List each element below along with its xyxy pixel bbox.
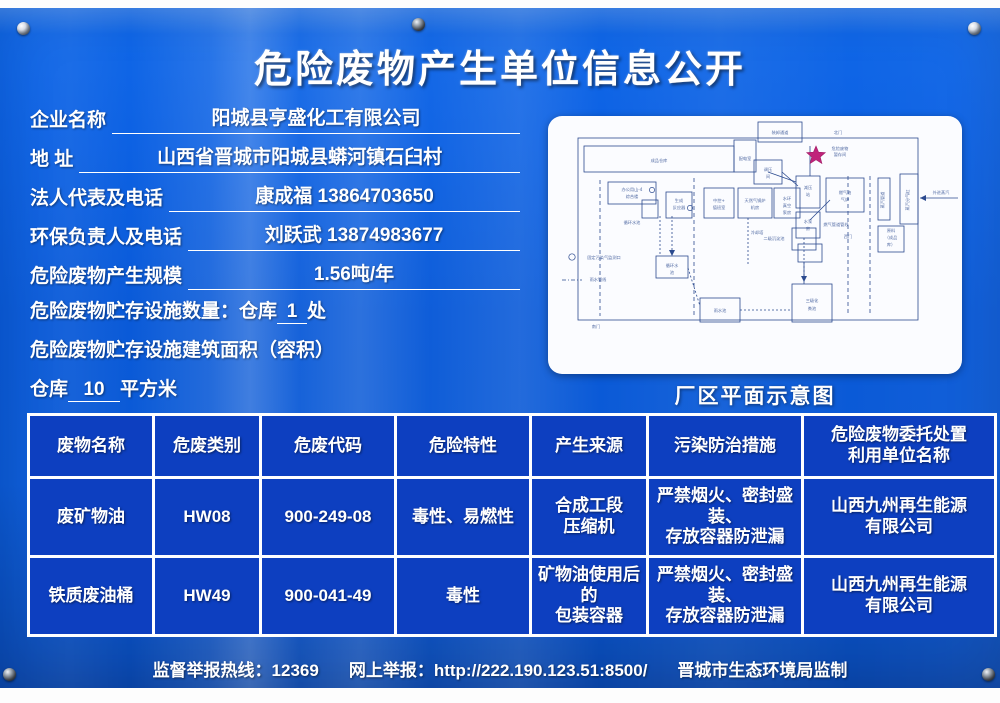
svg-text:中控+: 中控+ — [713, 197, 725, 204]
info-row-company-name: 企业名称 阳城县亨盛化工有限公司 — [30, 104, 520, 134]
svg-text:蒸汽管道: 蒸汽管道 — [879, 191, 886, 209]
svg-text:燃气管道管线: 燃气管道管线 — [823, 221, 849, 228]
svg-text:真空: 真空 — [783, 202, 791, 209]
svg-text:危险废物: 危险废物 — [832, 145, 849, 152]
svg-text:循环水: 循环水 — [666, 262, 679, 269]
svg-text:雨水管线: 雨水管线 — [590, 276, 608, 283]
svg-text:雨水池: 雨水池 — [714, 307, 727, 314]
svg-text:天然气锅炉: 天然气锅炉 — [745, 197, 766, 204]
cell-waste-name: 废矿物油 — [30, 479, 152, 555]
footer-online-report: 网上举报：http://222.190.123.51:8500/ — [349, 656, 648, 681]
svg-text:间: 间 — [766, 173, 770, 180]
header-generation-source: 产生来源 — [532, 416, 646, 476]
label-env-officer: 环保负责人及电话 — [30, 225, 182, 251]
svg-text:成品仓库: 成品仓库 — [651, 157, 668, 164]
svg-text:（成品: （成品 — [885, 234, 898, 241]
header-waste-category: 危废类别 — [155, 416, 259, 476]
cell-entrusted-unit-line2: 有限公司 — [806, 517, 992, 538]
svg-text:水泵: 水泵 — [804, 218, 812, 224]
svg-text:蒸汽分气缸: 蒸汽分气缸 — [904, 189, 911, 211]
table-header-row: 废物名称 危废类别 危废代码 危险特性 产生来源 污染防治措施 危险废物委托处置… — [30, 416, 994, 476]
header-entrusted-unit: 危险废物委托处置 利用单位名称 — [804, 416, 994, 476]
table-row: 铁质废油桶 HW49 900-041-49 毒性 矿物油使用后的 包装容器 严禁… — [30, 558, 994, 634]
cell-hazard-property: 毒性 — [397, 558, 529, 634]
company-info-block: 企业名称 阳城县亨盛化工有限公司 地 址 山西省晋城市阳城县蟒河镇石臼村 法人代… — [30, 104, 520, 416]
svg-text:综合楼: 综合楼 — [626, 193, 639, 200]
value-legal-rep: 康成福 13864703650 — [169, 185, 520, 212]
unit-storage-count: 处 — [307, 301, 326, 322]
header-waste-code: 危废代码 — [262, 416, 394, 476]
info-row-generation-scale: 危险废物产生规模 1.56吨/年 — [30, 260, 520, 290]
header-waste-name: 废物名称 — [30, 416, 152, 476]
svg-text:气炉: 气炉 — [841, 196, 849, 203]
header-entrusted-unit-line1: 危险废物委托处置 — [806, 425, 992, 446]
information-board: 危险废物产生单位信息公开 企业名称 阳城县亨盛化工有限公司 地 址 山西省晋城市… — [0, 8, 1000, 688]
svg-text:池: 池 — [670, 269, 675, 275]
info-row-storage-area-value: 仓库10平方米 — [30, 377, 520, 407]
info-row-legal-rep: 法人代表及电话 康成福 13864703650 — [30, 182, 520, 212]
svg-text:暂存间: 暂存间 — [834, 151, 847, 158]
svg-text:办公用山-4: 办公用山-4 — [622, 186, 643, 193]
unit-storage-area: 平方米 — [120, 379, 177, 400]
cell-entrusted-unit-line1: 山西九州再生能源 — [806, 496, 992, 517]
footer-hotline: 监督举报热线：12369 — [153, 656, 319, 681]
info-row-storage-count: 危险废物贮存设施数量：仓库1处 — [30, 299, 520, 329]
cell-waste-name: 铁质废油桶 — [30, 558, 152, 634]
header-entrusted-unit-line2: 利用单位名称 — [806, 446, 992, 467]
svg-text:配电室: 配电室 — [739, 155, 752, 162]
value-address: 山西省晋城市阳城县蟒河镇石臼村 — [79, 146, 520, 173]
cell-pollution-control: 严禁烟火、密封盛装、 存放容器防泄漏 — [649, 479, 801, 555]
cell-waste-category: HW08 — [155, 479, 259, 555]
site-plan-svg: 成品仓库 配电室 装卸通道 北门 危险废物 暂存间 调压 间 减压 站 水泵 房… — [548, 116, 962, 374]
value-company-name: 阳城县亨盛化工有限公司 — [112, 107, 520, 134]
svg-text:机房: 机房 — [751, 204, 759, 211]
cell-hazard-property: 毒性、易燃性 — [397, 479, 529, 555]
svg-text:粪池: 粪池 — [808, 305, 817, 312]
site-plan-diagram: 成品仓库 配电室 装卸通道 北门 危险废物 暂存间 调压 间 减压 站 水泵 房… — [548, 116, 962, 374]
svg-text:循环水池: 循环水池 — [624, 219, 642, 226]
header-hazard-property: 危险特性 — [397, 416, 529, 476]
cell-entrusted-unit: 山西九州再生能源 有限公司 — [804, 558, 994, 634]
cell-pollution-control-line1: 严禁烟火、密封盛装、 — [651, 565, 799, 606]
svg-text:调压: 调压 — [764, 166, 772, 173]
label-storage-area: 危险废物贮存设施建筑面积（容积） — [30, 340, 334, 361]
cell-pollution-control-line1: 严禁烟火、密封盛装、 — [651, 486, 799, 527]
info-row-address: 地 址 山西省晋城市阳城县蟒河镇石臼村 — [30, 143, 520, 173]
cell-generation-source: 合成工段 压缩机 — [532, 479, 646, 555]
value-storage-area: 10 — [68, 379, 120, 402]
signboard-screenshot: 危险废物产生单位信息公开 企业名称 阳城县亨盛化工有限公司 地 址 山西省晋城市… — [0, 0, 1000, 703]
cell-entrusted-unit-line1: 山西九州再生能源 — [806, 575, 992, 596]
svg-text:水环: 水环 — [783, 195, 791, 202]
cell-pollution-control-line2: 存放容器防泄漏 — [651, 527, 799, 548]
cell-pollution-control-line2: 存放容器防泄漏 — [651, 606, 799, 627]
info-row-storage-area-label: 危险废物贮存设施建筑面积（容积） — [30, 338, 520, 368]
cell-entrusted-unit-line2: 有限公司 — [806, 596, 992, 617]
label-storage-count: 危险废物贮存设施数量：仓库 — [30, 301, 277, 322]
svg-text:值班室: 值班室 — [713, 204, 726, 211]
svg-text:库）: 库） — [887, 241, 895, 248]
cell-generation-source-line1: 矿物油使用后的 — [534, 565, 644, 606]
cell-entrusted-unit: 山西九州再生能源 有限公司 — [804, 479, 994, 555]
svg-text:房: 房 — [806, 225, 810, 232]
footer-authority: 晋城市生态环境局监制 — [677, 656, 847, 681]
info-row-env-officer: 环保负责人及电话 刘跃武 13874983677 — [30, 221, 520, 251]
svg-text:减压: 减压 — [804, 184, 812, 191]
svg-text:外进蒸汽: 外进蒸汽 — [933, 189, 951, 196]
cell-generation-source-line2: 包装容器 — [534, 606, 644, 627]
cell-generation-source: 矿物油使用后的 包装容器 — [532, 558, 646, 634]
hazardous-waste-table: 废物名称 危废类别 危废代码 危险特性 产生来源 污染防治措施 危险废物委托处置… — [27, 413, 997, 637]
header-pollution-control: 污染防治措施 — [649, 416, 801, 476]
cell-waste-category: HW49 — [155, 558, 259, 634]
svg-text:生成: 生成 — [675, 197, 683, 204]
wall-below-board — [0, 688, 1000, 703]
hazardous-waste-star-marker — [807, 146, 826, 164]
mounting-bolt-top-center — [412, 18, 425, 31]
svg-text:原料: 原料 — [887, 227, 896, 234]
label-legal-rep: 法人代表及电话 — [30, 186, 163, 212]
cell-waste-code: 900-249-08 — [262, 479, 394, 555]
svg-text:站: 站 — [806, 191, 810, 198]
page-title: 危险废物产生单位信息公开 — [0, 38, 1000, 93]
svg-text:固定污染气监测口: 固定污染气监测口 — [587, 254, 621, 261]
label-generation-scale: 危险废物产生规模 — [30, 264, 182, 290]
svg-text:三级化: 三级化 — [806, 297, 819, 304]
svg-text:装卸通道: 装卸通道 — [772, 129, 790, 136]
diagram-caption: 厂区平面示意图 — [548, 380, 962, 410]
cell-waste-code: 900-041-49 — [262, 558, 394, 634]
cell-pollution-control: 严禁烟火、密封盛装、 存放容器防泄漏 — [649, 558, 801, 634]
label-company-name: 企业名称 — [30, 108, 106, 134]
value-generation-scale: 1.56吨/年 — [188, 263, 520, 290]
svg-text:冷却塔: 冷却塔 — [751, 229, 764, 236]
table-row: 废矿物油 HW08 900-249-08 毒性、易燃性 合成工段 压缩机 严禁烟… — [30, 479, 994, 555]
svg-text:二级沉淀池: 二级沉淀池 — [764, 235, 786, 242]
value-storage-count: 1 — [277, 301, 307, 324]
mounting-bolt-top-right — [968, 22, 981, 35]
value-env-officer: 刘跃武 13874983677 — [188, 224, 520, 251]
footer-bar: 监督举报热线：12369 网上举报：http://222.190.123.51:… — [0, 656, 1000, 681]
svg-text:南门: 南门 — [592, 323, 600, 330]
mounting-bolt-top-left — [17, 22, 30, 35]
svg-text:泵房: 泵房 — [783, 209, 791, 216]
svg-text:北门: 北门 — [834, 129, 842, 136]
label-address: 地 址 — [30, 147, 73, 173]
cell-generation-source-line2: 压缩机 — [534, 517, 644, 538]
svg-text:燃气油: 燃气油 — [839, 189, 852, 196]
svg-text:西门: 西门 — [844, 233, 852, 240]
cell-generation-source-line1: 合成工段 — [534, 496, 644, 517]
svg-text:反应器: 反应器 — [673, 204, 686, 211]
prefix-storage-area: 仓库 — [30, 379, 68, 400]
